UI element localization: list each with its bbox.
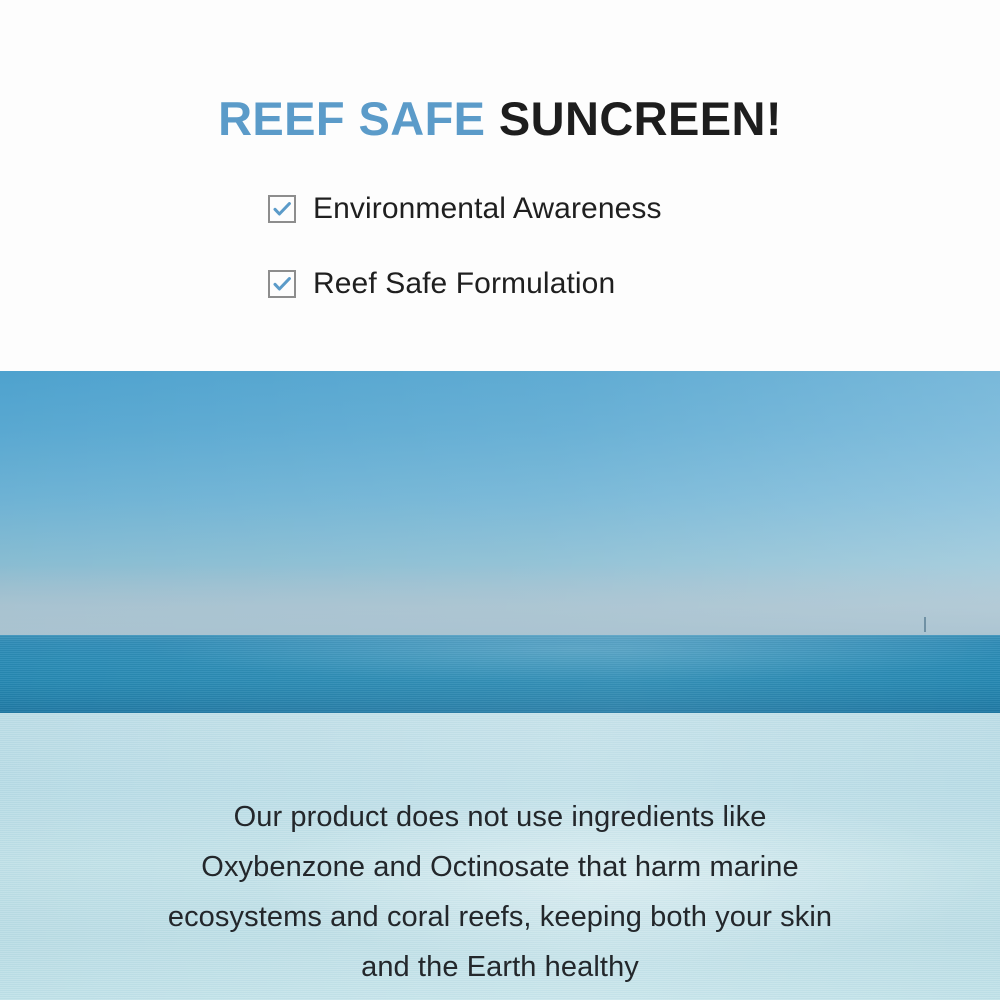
list-item-label: Environmental Awareness	[313, 194, 662, 224]
page-title-main: SUNCREEN!	[499, 92, 782, 145]
description-line: ecosystems and coral reefs, keeping both…	[0, 892, 1000, 942]
feature-checklist: Environmental Awareness Reef Safe Formul…	[0, 186, 1000, 336]
distant-boat-icon	[924, 617, 926, 632]
page-title-accent: REEF SAFE	[218, 92, 485, 145]
reef-safe-suncreen-banner: REEF SAFE SUNCREEN! Environmental Awaren…	[0, 0, 1000, 1000]
ocean-horizon-photo	[0, 371, 1000, 713]
checkbox-checked-icon	[268, 270, 296, 298]
description-line: Our product does not use ingredients lik…	[0, 792, 1000, 842]
description-panel: Our product does not use ingredients lik…	[0, 713, 1000, 1000]
description-line: and the Earth healthy	[0, 942, 1000, 992]
ocean-sheen	[0, 635, 1000, 713]
header-panel: REEF SAFE SUNCREEN! Environmental Awaren…	[0, 0, 1000, 371]
page-title: REEF SAFE SUNCREEN!	[0, 93, 1000, 145]
checkbox-checked-icon	[268, 195, 296, 223]
horizon-haze	[0, 565, 1000, 635]
ocean-region	[0, 635, 1000, 713]
description-paragraph: Our product does not use ingredients lik…	[0, 792, 1000, 992]
list-item-label: Reef Safe Formulation	[313, 269, 615, 299]
list-item: Environmental Awareness	[0, 186, 1000, 232]
description-line: Oxybenzone and Octinosate that harm mari…	[0, 842, 1000, 892]
sky-region	[0, 371, 1000, 635]
list-item: Reef Safe Formulation	[0, 261, 1000, 307]
